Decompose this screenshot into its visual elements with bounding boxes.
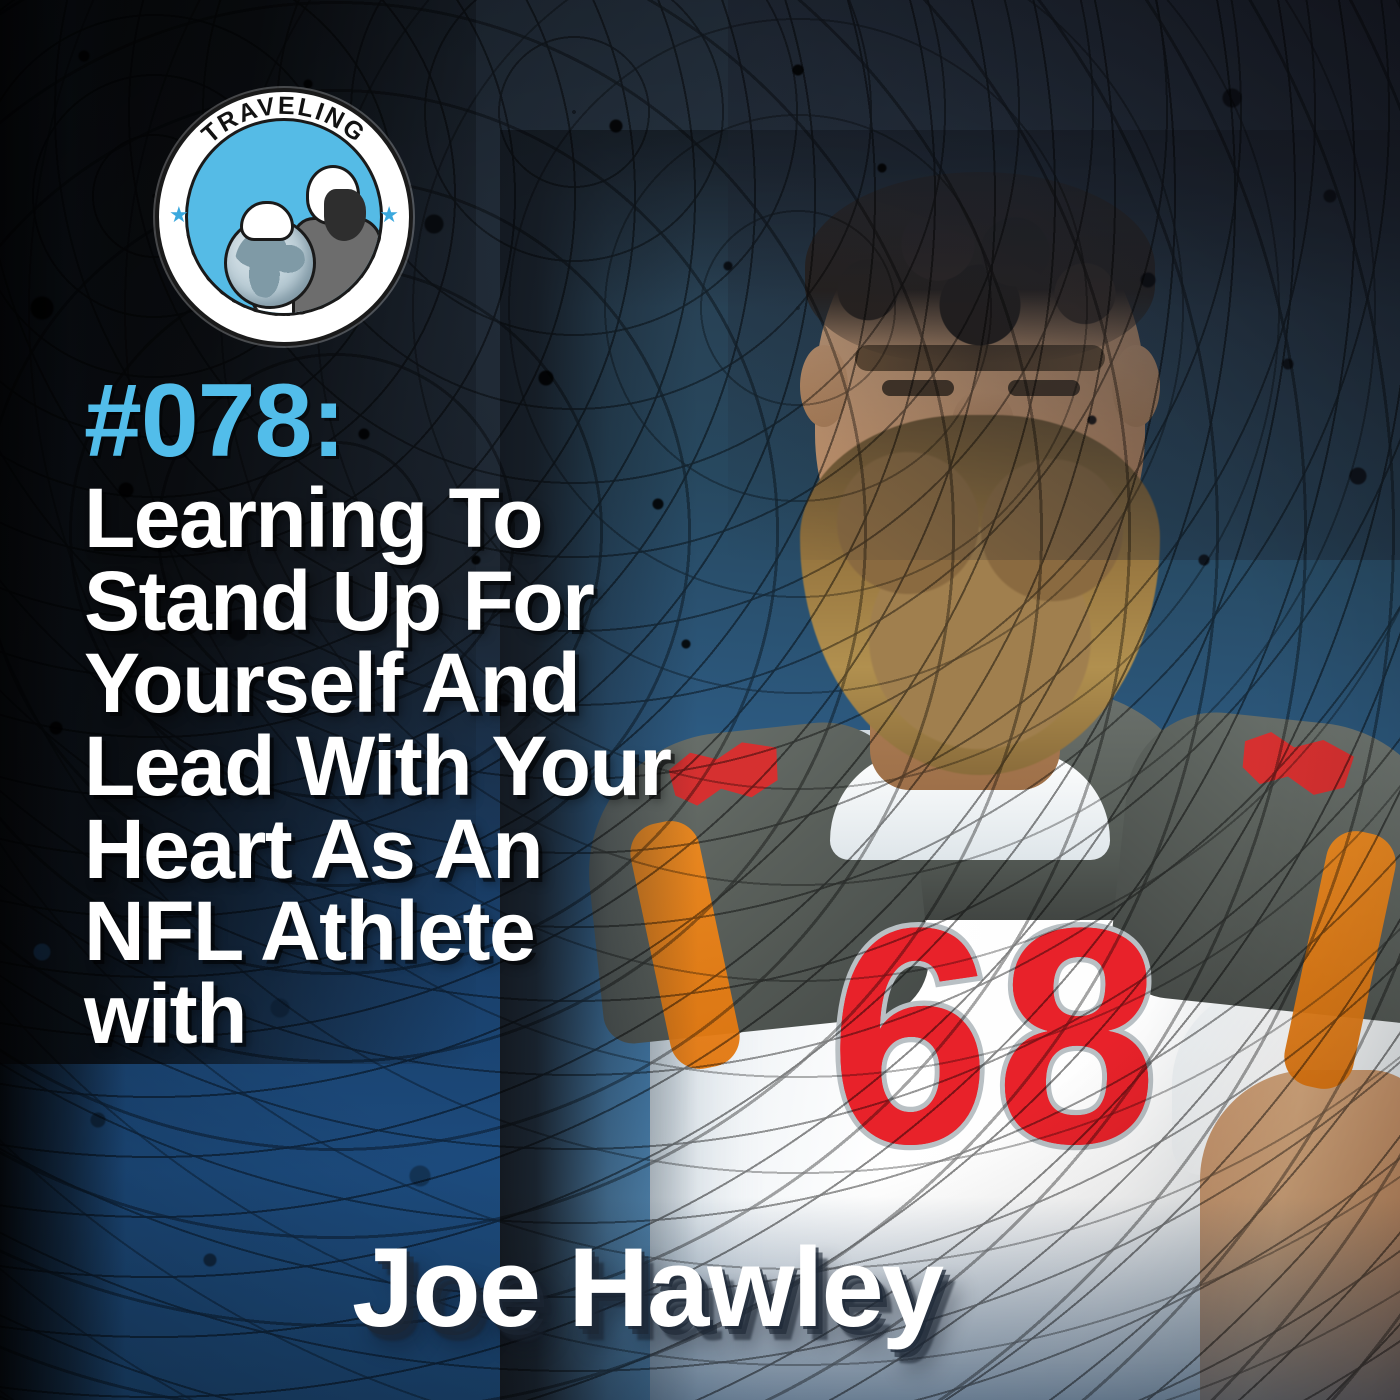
- title-line: Learning To: [84, 477, 964, 560]
- title-line: Lead With Your: [84, 725, 964, 808]
- logo-figure-hand: [240, 201, 294, 241]
- title-line: with: [84, 973, 964, 1056]
- star-right-icon: ★: [379, 204, 399, 226]
- logo-inner-disc: [185, 118, 383, 316]
- episode-text-block: #078: Learning To Stand Up For Yourself …: [84, 372, 964, 1056]
- star-left-icon: ★: [169, 204, 189, 226]
- podcast-logo[interactable]: TRAVELING TO CONSCIOUSNESS ★ ★: [155, 88, 413, 346]
- podcast-cover-art: 68 68 TRAVELING TO CONSCIOUSNESS: [0, 0, 1400, 1400]
- title-line: Yourself And: [84, 642, 964, 725]
- title-line: Heart As An: [84, 808, 964, 891]
- title-line: NFL Athlete: [84, 890, 964, 973]
- episode-number: #078:: [84, 372, 964, 471]
- guest-name: Joe Hawley: [352, 1232, 942, 1344]
- title-line: Stand Up For: [84, 560, 964, 643]
